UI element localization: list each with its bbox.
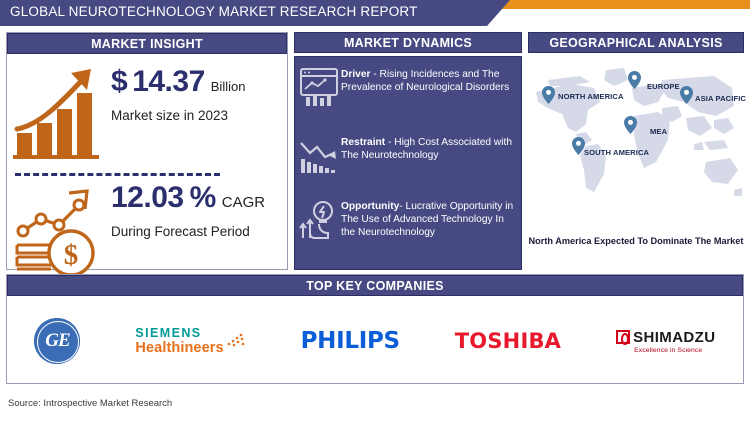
currency-symbol: $ xyxy=(111,67,127,97)
map-pin-north-america[interactable] xyxy=(542,86,555,104)
dynamics-restraint-text: Restraint - High Cost Associated with Th… xyxy=(341,133,523,177)
market-dynamics-title: MARKET DYNAMICS xyxy=(294,32,522,53)
dynamics-driver-text: Driver - Rising Incidences and The Preva… xyxy=(341,65,523,109)
dynamics-restraint-label: Restraint xyxy=(341,137,385,148)
ge-circle-mark: GE xyxy=(34,318,80,364)
cagr-row: $ 12.03 % CAGR During Forecast Period xyxy=(7,173,287,277)
cagr-value: 12.03 xyxy=(111,183,184,213)
region-label-north-america: NORTH AMERICA xyxy=(558,92,624,101)
cagr-unit: CAGR xyxy=(222,195,265,210)
philips-wordmark: PHILIPS xyxy=(301,328,400,354)
dynamics-opportunity-text: Opportunity- Lucrative Opportunity in Th… xyxy=(341,197,523,241)
dynamics-opportunity-label: Opportunity xyxy=(341,201,399,212)
map-pin-europe[interactable] xyxy=(628,71,641,89)
geographical-analysis-panel: GEOGRAPHICAL ANALYSIS xyxy=(528,32,744,270)
siemens-dots-icon xyxy=(226,329,246,349)
geographical-analysis-title: GEOGRAPHICAL ANALYSIS xyxy=(528,32,744,53)
dynamics-driver-label: Driver xyxy=(341,69,370,80)
region-label-south-america: SOUTH AMERICA xyxy=(584,148,649,157)
market-dynamics-panel: MARKET DYNAMICS Driver - Rising Incidenc… xyxy=(294,32,522,270)
map-pin-mea[interactable] xyxy=(624,116,637,134)
shimadzu-lockup: SHIMADZU Excellence in Science xyxy=(616,329,715,354)
dynamics-item-opportunity: Opportunity- Lucrative Opportunity in Th… xyxy=(295,197,523,241)
shimadzu-top-row: SHIMADZU xyxy=(616,329,715,346)
market-insight-title: MARKET INSIGHT xyxy=(7,33,287,54)
coins-trend-icon: $ xyxy=(13,175,109,275)
shimadzu-square-icon xyxy=(616,330,630,344)
market-size-unit: Billion xyxy=(211,80,246,93)
dynamics-restraint-dash: - xyxy=(385,137,394,148)
cagr-text: 12.03 % CAGR During Forecast Period xyxy=(111,183,283,239)
dynamics-item-restraint: Restraint - High Cost Associated with Th… xyxy=(295,133,523,177)
page-title: GLOBAL NEUROTECHNOLOGY MARKET RESEARCH R… xyxy=(10,4,418,19)
market-size-value-row: $ 14.37 Billion xyxy=(111,67,283,97)
market-size-row: $ 14.37 Billion Market size in 2023 xyxy=(7,57,287,161)
shimadzu-tagline: Excellence in Science xyxy=(634,347,702,354)
geographical-analysis-body: NORTH AMERICA EUROPE ASIA PACIFIC MEA SO… xyxy=(528,56,744,270)
company-logo-shimadzu[interactable]: SHIMADZU Excellence in Science xyxy=(616,311,715,371)
market-insight-body: $ 14.37 Billion Market size in 2023 xyxy=(7,55,287,271)
top-key-companies-panel: TOP KEY COMPANIES GE SIEMENS Healthineer… xyxy=(6,274,744,384)
cagr-caption: During Forecast Period xyxy=(111,224,283,239)
siemens-subname: Healthineers xyxy=(135,341,223,356)
svg-text:$: $ xyxy=(64,239,79,271)
market-size-value: 14.37 xyxy=(132,67,205,97)
company-logo-toshiba[interactable]: TOSHIBA xyxy=(455,311,561,371)
dashboard-chart-icon xyxy=(297,65,341,109)
dynamics-driver-dash: - xyxy=(370,69,379,80)
company-logo-ge[interactable]: GE xyxy=(34,311,80,371)
cagr-percent-symbol: % xyxy=(190,183,216,213)
company-logo-row: GE SIEMENS Healthineers PHILIPS TOSHIBA xyxy=(7,297,743,385)
region-label-europe: EUROPE xyxy=(647,82,680,91)
geo-footnote: North America Expected To Dominate The M… xyxy=(528,236,744,246)
shimadzu-wordmark: SHIMADZU xyxy=(633,329,715,346)
market-insight-panel: MARKET INSIGHT $ 14.37 Billion Market si… xyxy=(6,32,288,270)
source-caption: Source: Introspective Market Research xyxy=(8,398,172,409)
world-map: NORTH AMERICA EUROPE ASIA PACIFIC MEA SO… xyxy=(528,58,744,228)
siemens-name: SIEMENS xyxy=(135,327,223,340)
bar-chart-growth-icon xyxy=(13,59,109,159)
toshiba-wordmark: TOSHIBA xyxy=(455,329,561,353)
lightbulb-growth-icon xyxy=(297,197,341,241)
page-header: GLOBAL NEUROTECHNOLOGY MARKET RESEARCH R… xyxy=(0,0,750,28)
company-logo-siemens[interactable]: SIEMENS Healthineers xyxy=(135,311,245,371)
ge-monogram-text: GE xyxy=(45,330,69,352)
market-dynamics-body: Driver - Rising Incidences and The Preva… xyxy=(294,56,522,270)
cagr-value-row: 12.03 % CAGR xyxy=(111,183,283,213)
market-size-text: $ 14.37 Billion Market size in 2023 xyxy=(111,67,283,123)
dynamics-item-driver: Driver - Rising Incidences and The Preva… xyxy=(295,65,523,109)
declining-chart-icon xyxy=(297,133,341,177)
market-size-caption: Market size in 2023 xyxy=(111,108,283,123)
region-label-asia-pacific: ASIA PACIFIC xyxy=(695,94,746,103)
siemens-wordmark: SIEMENS Healthineers xyxy=(135,327,245,355)
region-label-mea: MEA xyxy=(650,127,667,136)
top-key-companies-title: TOP KEY COMPANIES xyxy=(7,275,743,296)
map-pin-asia-pacific[interactable] xyxy=(680,86,693,104)
company-logo-philips[interactable]: PHILIPS xyxy=(301,311,400,371)
